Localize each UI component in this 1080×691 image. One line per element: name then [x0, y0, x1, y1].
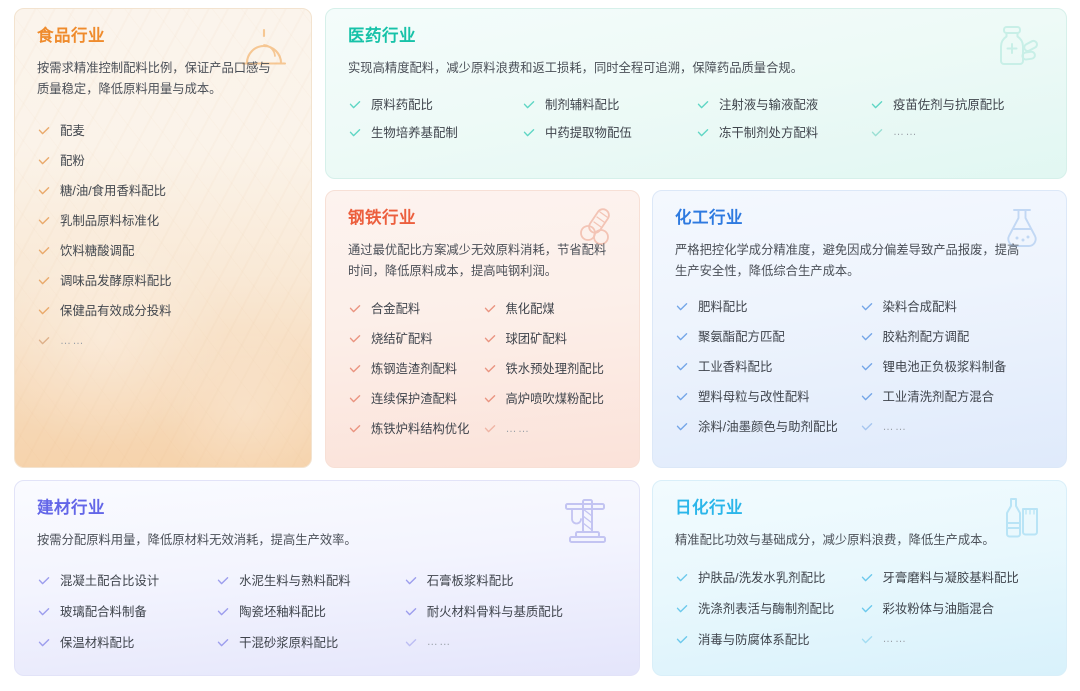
list-item[interactable]: 工业清洗剂配方混合 [860, 384, 1045, 410]
check-icon [483, 362, 497, 376]
card-description: 通过最优配比方案减少无效原料消耗，节省配料时间，降低原料成本，提高吨钢利润。 [348, 240, 614, 282]
list-item[interactable]: …… [404, 630, 617, 656]
check-icon [675, 420, 689, 434]
card-title: 化工行业 [675, 209, 1044, 229]
list-item-label: 玻璃配合料制备 [60, 606, 147, 618]
check-icon [348, 332, 362, 346]
check-icon [37, 605, 51, 619]
list-item[interactable]: 消毒与防腐体系配比 [675, 627, 860, 653]
check-icon [37, 334, 51, 348]
list-item[interactable]: 合金配料 [348, 296, 483, 322]
list-item[interactable]: 胶粘剂配方调配 [860, 324, 1045, 350]
list-item[interactable]: 肥料配比 [675, 294, 860, 320]
card-title: 建材行业 [37, 499, 617, 519]
list-item[interactable]: 铁水预处理剂配比 [483, 356, 618, 382]
check-icon [860, 300, 874, 314]
card-description: 按需求精准控制配料比例，保证产品口感与质量稳定，降低原料用量与成本。 [37, 58, 279, 100]
list-item-label: 聚氨酯配方匹配 [698, 331, 785, 343]
check-icon [675, 633, 689, 647]
list-item-label: 调味品发酵原料配比 [60, 275, 172, 287]
check-icon [860, 571, 874, 585]
list-item[interactable]: 乳制品原料标准化 [37, 208, 289, 234]
list-item-label: 保温材料配比 [60, 637, 134, 649]
list-item[interactable]: 疫苗佐剂与抗原配比 [870, 92, 1044, 118]
list-item-label: 焦化配煤 [506, 303, 555, 315]
check-icon [216, 605, 230, 619]
check-icon [860, 360, 874, 374]
list-item-label: 饮料糖酸调配 [60, 245, 134, 257]
list-item[interactable]: 牙膏磨料与凝胶基料配比 [860, 565, 1045, 591]
list-item-label: 护肤品/洗发水乳剂配比 [698, 572, 825, 584]
feature-list: 配麦 配粉 糖/油/食用香料配比 乳制品原料标准化 饮料糖酸调配 调味品发酵原料… [37, 118, 289, 354]
card-title: 医药行业 [348, 27, 1044, 47]
list-item[interactable]: 耐火材料骨料与基质配比 [404, 599, 617, 625]
check-icon [860, 420, 874, 434]
list-item-label: …… [883, 422, 908, 433]
check-icon [675, 571, 689, 585]
list-item[interactable]: 配麦 [37, 118, 289, 144]
card-description: 精准配比功效与基础成分，减少原料浪费，降低生产成本。 [675, 530, 1029, 551]
list-item[interactable]: 高炉喷吹煤粉配比 [483, 386, 618, 412]
check-icon [404, 605, 418, 619]
list-item[interactable]: 原料药配比 [348, 92, 522, 118]
check-icon [483, 332, 497, 346]
check-icon [37, 636, 51, 650]
list-item[interactable]: 护肤品/洗发水乳剂配比 [675, 565, 860, 591]
list-item-label: 制剂辅料配比 [545, 99, 619, 111]
list-item-label: 原料药配比 [371, 99, 433, 111]
list-item[interactable]: …… [483, 416, 618, 442]
list-item-label: 锂电池正负极浆料制备 [883, 361, 1007, 373]
check-icon [860, 330, 874, 344]
check-icon [860, 390, 874, 404]
list-item-label: …… [893, 127, 918, 138]
list-item-label: 塑料母粒与改性配料 [698, 391, 810, 403]
check-icon [37, 184, 51, 198]
list-item-label: 冻干制剂处方配料 [719, 127, 818, 139]
industry-cards-board: 食品行业 按需求精准控制配料比例，保证产品口感与质量稳定，降低原料用量与成本。 … [0, 0, 1080, 691]
list-item-label: 配粉 [60, 155, 85, 167]
list-item[interactable]: …… [860, 627, 1045, 653]
list-item-label: 注射液与输液配液 [719, 99, 818, 111]
list-item-label: 彩妆粉体与油脂混合 [883, 603, 995, 615]
card-title: 钢铁行业 [348, 209, 617, 229]
list-item[interactable]: 玻璃配合料制备 [37, 599, 216, 625]
industry-card-building-materials[interactable]: 建材行业 按需分配原料用量，降低原材料无效消耗，提高生产效率。 混凝土配合比设计… [14, 480, 640, 676]
card-description: 实现高精度配料，减少原料浪费和返工损耗，同时全程可追溯，保障药品质量合规。 [348, 58, 1016, 79]
list-item-label: 炼铁炉料结构优化 [371, 423, 469, 435]
list-item-label: 石膏板浆料配比 [427, 575, 514, 587]
check-icon [870, 126, 884, 140]
check-icon [348, 392, 362, 406]
list-item[interactable]: 洗涤剂表活与酶制剂配比 [675, 596, 860, 622]
check-icon [860, 633, 874, 647]
list-item-label: 合金配料 [371, 303, 420, 315]
check-icon [696, 98, 710, 112]
check-icon [37, 274, 51, 288]
list-item-label: 疫苗佐剂与抗原配比 [893, 99, 1005, 111]
list-item-label: …… [60, 336, 85, 347]
list-item[interactable]: 陶瓷坯釉料配比 [216, 599, 404, 625]
card-description: 按需分配原料用量，降低原材料无效消耗，提高生产效率。 [37, 530, 594, 551]
check-icon [404, 574, 418, 588]
list-item[interactable]: 连续保护渣配料 [348, 386, 483, 412]
list-item[interactable]: 调味品发酵原料配比 [37, 268, 289, 294]
list-item-label: 耐火材料骨料与基质配比 [427, 606, 563, 618]
check-icon [348, 302, 362, 316]
list-item-label: 烧结矿配料 [371, 333, 433, 345]
list-item[interactable]: 保健品有效成分投料 [37, 298, 289, 324]
list-item-label: 涂料/油墨颜色与助剂配比 [698, 421, 838, 433]
check-icon [348, 362, 362, 376]
list-item[interactable]: 工业香料配比 [675, 354, 860, 380]
card-description: 严格把控化学成分精准度，避免因成分偏差导致产品报废，提高生产安全性，降低综合生产… [675, 240, 1029, 282]
list-item[interactable]: 焦化配煤 [483, 296, 618, 322]
list-item[interactable]: …… [870, 120, 1044, 146]
list-item-label: 铁水预处理剂配比 [506, 363, 604, 375]
list-item-label: 炼钢造渣剂配料 [371, 363, 457, 375]
check-icon [37, 214, 51, 228]
check-icon [348, 422, 362, 436]
check-icon [675, 390, 689, 404]
check-icon [483, 302, 497, 316]
list-item[interactable]: 冻干制剂处方配料 [696, 120, 870, 146]
list-item[interactable]: 炼钢造渣剂配料 [348, 356, 483, 382]
industry-card-chemical[interactable]: 化工行业 严格把控化学成分精准度，避免因成分偏差导致产品报废，提高生产安全性，降… [652, 190, 1067, 468]
list-item-label: 消毒与防腐体系配比 [698, 634, 810, 646]
list-item-label: 球团矿配料 [506, 333, 568, 345]
check-icon [522, 126, 536, 140]
list-item[interactable]: 聚氨酯配方匹配 [675, 324, 860, 350]
list-item[interactable]: 炼铁炉料结构优化 [348, 416, 483, 442]
list-item[interactable]: 石膏板浆料配比 [404, 568, 617, 594]
check-icon [348, 126, 362, 140]
list-item[interactable]: 锂电池正负极浆料制备 [860, 354, 1045, 380]
list-item-label: 高炉喷吹煤粉配比 [506, 393, 604, 405]
industry-card-food[interactable]: 食品行业 按需求精准控制配料比例，保证产品口感与质量稳定，降低原料用量与成本。 … [14, 8, 312, 468]
list-item-label: 干混砂浆原料配比 [239, 637, 338, 649]
list-item[interactable]: 彩妆粉体与油脂混合 [860, 596, 1045, 622]
list-item[interactable]: 球团矿配料 [483, 326, 618, 352]
check-icon [404, 636, 418, 650]
check-icon [522, 98, 536, 112]
list-item-label: 染料合成配料 [883, 301, 957, 313]
list-item-label: …… [506, 424, 531, 435]
list-item-label: 保健品有效成分投料 [60, 305, 172, 317]
check-icon [37, 304, 51, 318]
list-item-label: 工业香料配比 [698, 361, 772, 373]
list-item-label: 洗涤剂表活与酶制剂配比 [698, 603, 834, 615]
list-item[interactable]: 涂料/油墨颜色与助剂配比 [675, 414, 860, 440]
check-icon [348, 98, 362, 112]
list-item-label: 配麦 [60, 125, 85, 137]
industry-card-steel[interactable]: 钢铁行业 通过最优配比方案减少无效原料消耗，节省配料时间，降低原料成本，提高吨钢… [325, 190, 640, 468]
list-item-label: 生物培养基配制 [371, 127, 458, 139]
list-item-label: 连续保护渣配料 [371, 393, 457, 405]
list-item[interactable]: 保温材料配比 [37, 630, 216, 656]
card-title: 日化行业 [675, 499, 1044, 519]
list-item-label: 糖/油/食用香料配比 [60, 185, 166, 197]
check-icon [860, 602, 874, 616]
list-item[interactable]: …… [860, 414, 1045, 440]
list-item-label: 水泥生料与熟料配料 [239, 575, 351, 587]
list-item-label: 乳制品原料标准化 [60, 215, 159, 227]
list-item-label: 混凝土配合比设计 [60, 575, 159, 587]
check-icon [37, 124, 51, 138]
list-item[interactable]: 烧结矿配料 [348, 326, 483, 352]
list-item-label: 牙膏磨料与凝胶基料配比 [883, 572, 1019, 584]
list-item-label: 工业清洗剂配方混合 [883, 391, 995, 403]
list-item-label: 中药提取物配伍 [545, 127, 632, 139]
card-title: 食品行业 [37, 27, 289, 47]
industry-card-pharma[interactable]: 医药行业 实现高精度配料，减少原料浪费和返工损耗，同时全程可追溯，保障药品质量合… [325, 8, 1067, 179]
check-icon [483, 392, 497, 406]
feature-list: 护肤品/洗发水乳剂配比 牙膏磨料与凝胶基料配比 洗涤剂表活与酶制剂配比 彩妆粉体… [675, 565, 1044, 653]
check-icon [37, 574, 51, 588]
list-item-label: 肥料配比 [698, 301, 748, 313]
list-item[interactable]: 混凝土配合比设计 [37, 568, 216, 594]
industry-card-daily-chemical[interactable]: 日化行业 精准配比功效与基础成分，减少原料浪费，降低生产成本。 护肤品/洗发水乳… [652, 480, 1067, 676]
list-item[interactable]: 塑料母粒与改性配料 [675, 384, 860, 410]
check-icon [870, 98, 884, 112]
feature-list: 合金配料 焦化配煤 烧结矿配料 球团矿配料 炼钢造渣剂配料 铁水预处理剂配比 连… [348, 296, 617, 442]
check-icon [696, 126, 710, 140]
list-item[interactable]: 糖/油/食用香料配比 [37, 178, 289, 204]
list-item[interactable]: 染料合成配料 [860, 294, 1045, 320]
list-item[interactable]: 水泥生料与熟料配料 [216, 568, 404, 594]
check-icon [483, 422, 497, 436]
list-item[interactable]: 配粉 [37, 148, 289, 174]
list-item[interactable]: …… [37, 328, 289, 354]
feature-list: 肥料配比 染料合成配料 聚氨酯配方匹配 胶粘剂配方调配 工业香料配比 锂电池正负… [675, 294, 1044, 440]
check-icon [675, 360, 689, 374]
list-item[interactable]: 干混砂浆原料配比 [216, 630, 404, 656]
feature-list: 混凝土配合比设计 水泥生料与熟料配料 石膏板浆料配比 玻璃配合料制备 陶瓷坯釉料… [37, 568, 617, 656]
feature-list: 原料药配比 制剂辅料配比 注射液与输液配液 疫苗佐剂与抗原配比 生物培养基配制 … [348, 92, 1044, 146]
list-item-label: 陶瓷坯釉料配比 [239, 606, 326, 618]
check-icon [675, 602, 689, 616]
list-item[interactable]: 注射液与输液配液 [696, 92, 870, 118]
list-item[interactable]: 生物培养基配制 [348, 120, 522, 146]
list-item-label: …… [883, 634, 908, 645]
list-item-label: …… [427, 637, 452, 648]
check-icon [675, 300, 689, 314]
check-icon [675, 330, 689, 344]
check-icon [216, 636, 230, 650]
list-item[interactable]: 中药提取物配伍 [522, 120, 696, 146]
check-icon [37, 244, 51, 258]
list-item-label: 胶粘剂配方调配 [883, 331, 970, 343]
check-icon [216, 574, 230, 588]
check-icon [37, 154, 51, 168]
list-item[interactable]: 饮料糖酸调配 [37, 238, 289, 264]
list-item[interactable]: 制剂辅料配比 [522, 92, 696, 118]
